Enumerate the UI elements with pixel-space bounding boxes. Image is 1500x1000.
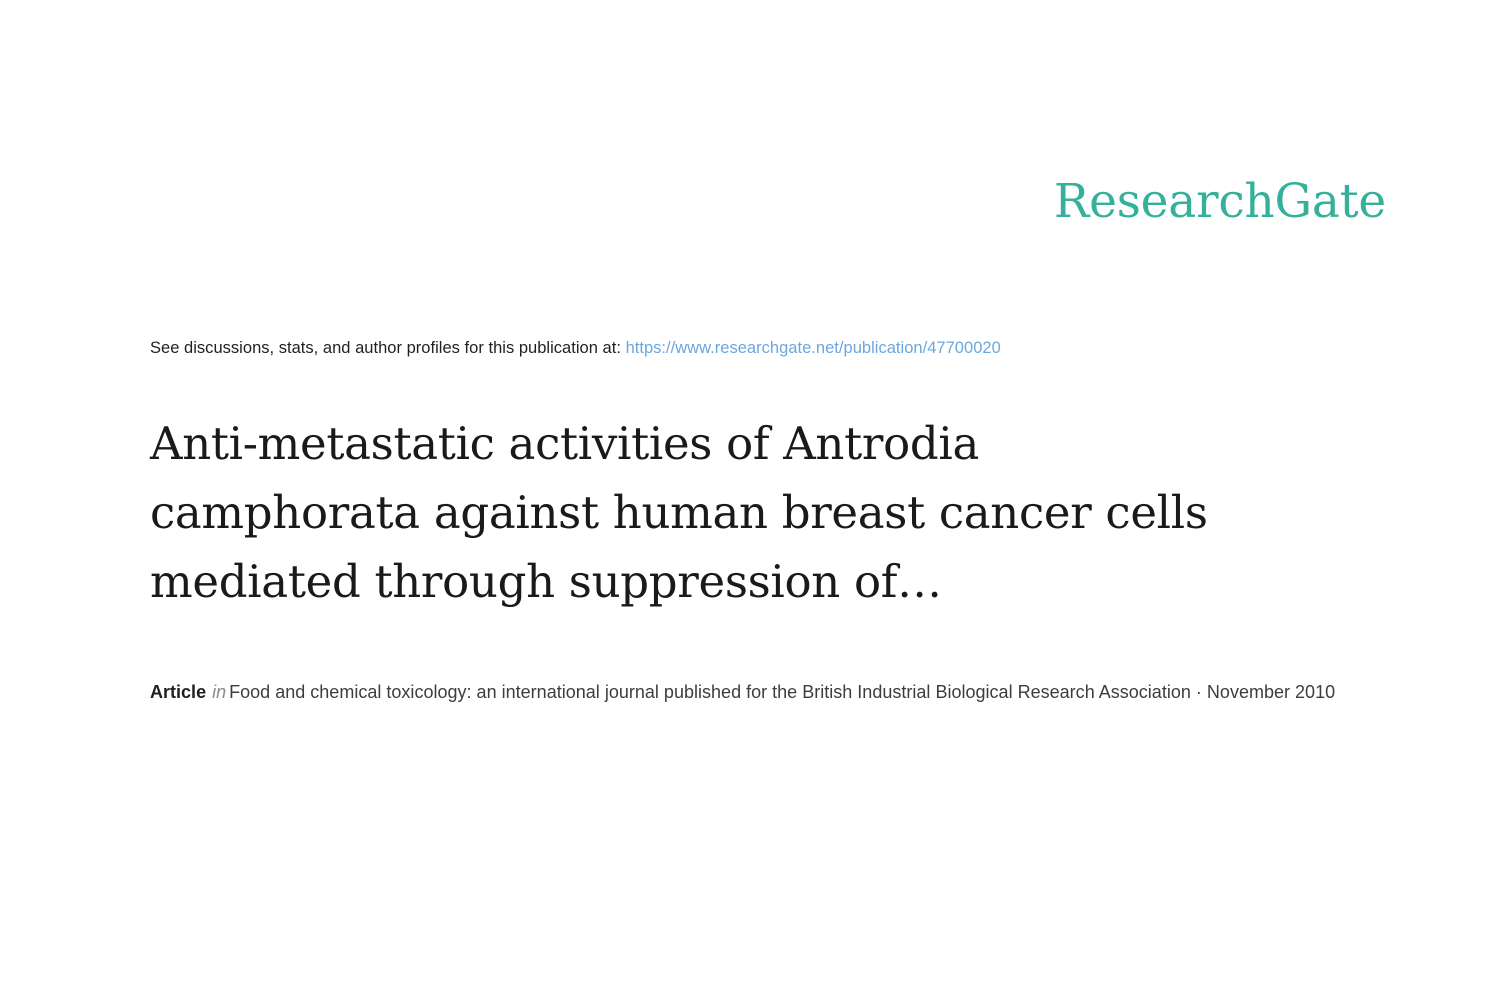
page-title: Anti-metastatic activities of Antrodia c… — [150, 409, 1380, 616]
researchgate-logo[interactable]: ResearchGate — [1054, 178, 1386, 225]
title-line-1: Anti-metastatic activities of Antrodia — [150, 409, 1380, 478]
discussion-notice: See discussions, stats, and author profi… — [150, 336, 1001, 360]
publication-url-link[interactable]: https://www.researchgate.net/publication… — [626, 339, 1001, 357]
publication-source-text: Food and chemical toxicology: an interna… — [229, 682, 1335, 702]
discussion-notice-text: See discussions, stats, and author profi… — [150, 339, 621, 357]
publication-type-label: Article — [150, 682, 206, 702]
publication-connector-label: in — [206, 682, 229, 702]
title-line-3: mediated through suppression of… — [150, 547, 1380, 616]
title-line-2: camphorata against human breast cancer c… — [150, 478, 1380, 547]
publication-metadata: ArticleinFood and chemical toxicology: a… — [150, 678, 1350, 707]
researchgate-publication-header: ResearchGate See discussions, stats, and… — [0, 0, 1500, 1000]
